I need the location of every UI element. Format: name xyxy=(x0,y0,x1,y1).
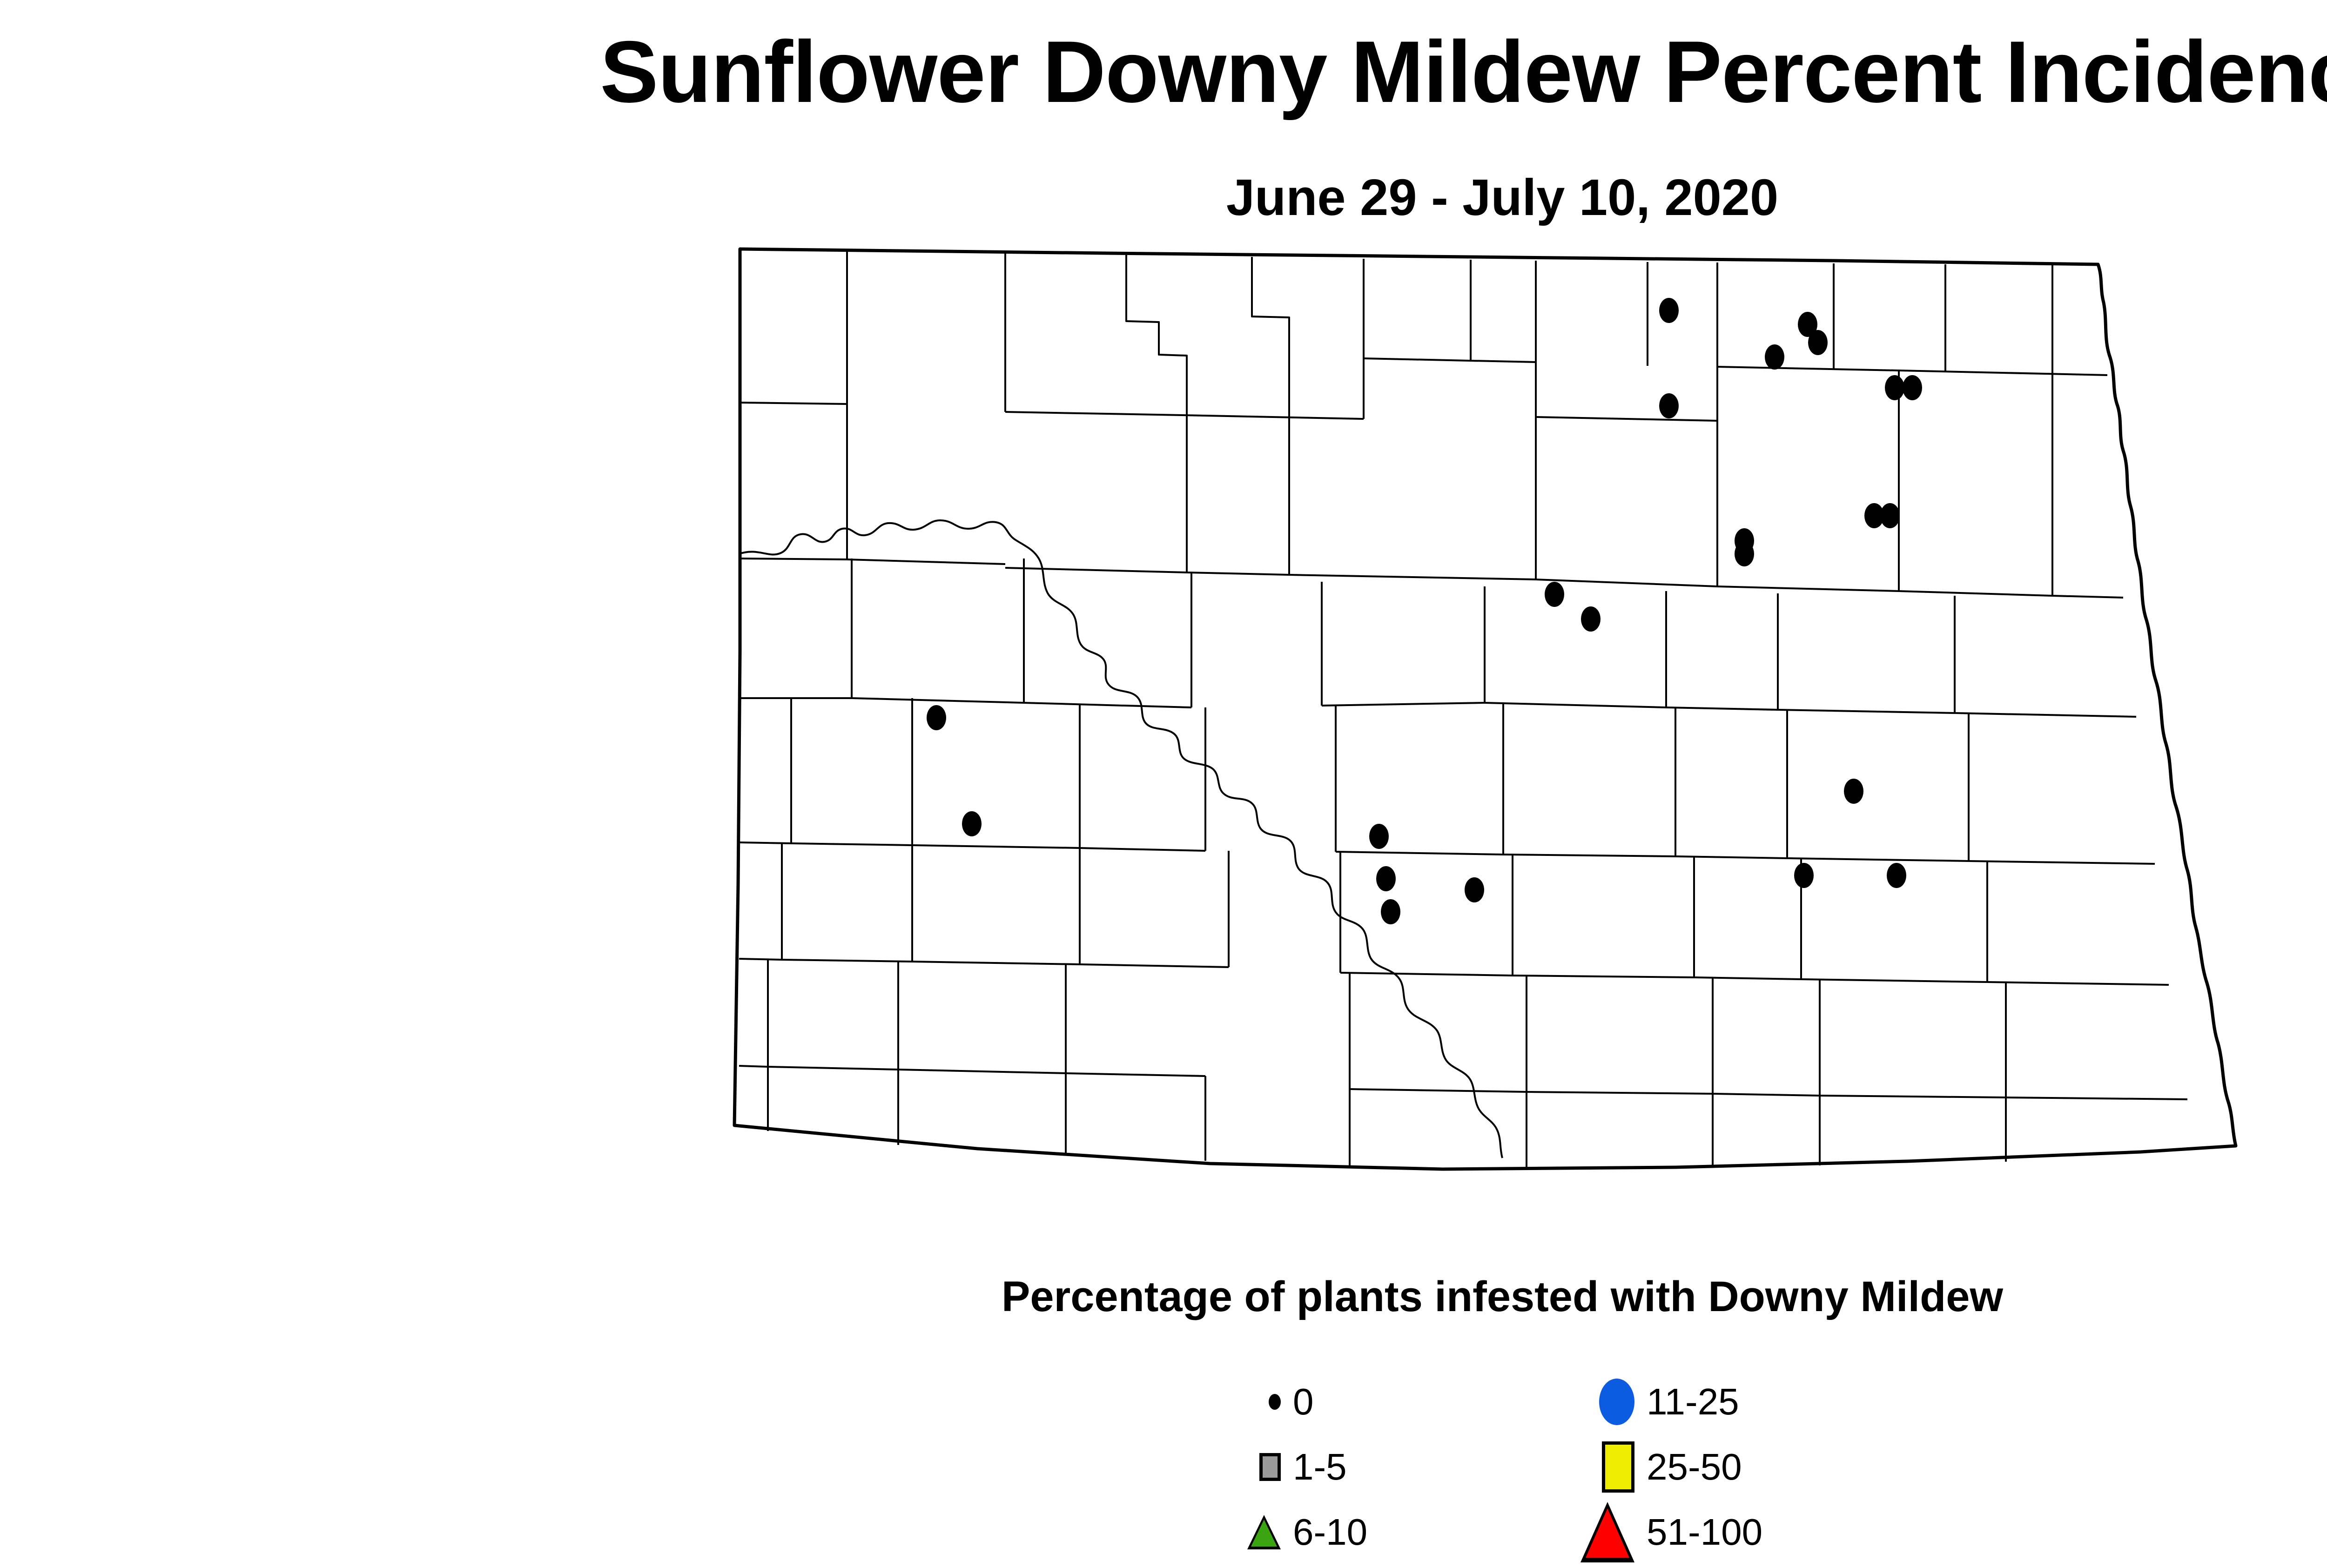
circle-icon xyxy=(1269,1394,1281,1410)
legend-symbol-51-100 xyxy=(1493,1502,1647,1562)
lake-sakakawea xyxy=(739,520,1213,769)
legend-symbol-0 xyxy=(1139,1394,1293,1410)
map-svg xyxy=(652,233,2327,1257)
legend-symbol-25-50 xyxy=(1493,1441,1647,1493)
legend-label-51-100: 51-100 xyxy=(1647,1514,1847,1551)
legend-label-1-5: 1-5 xyxy=(1293,1448,1493,1486)
legend-label-11-25: 11-25 xyxy=(1647,1383,1847,1420)
triangle-icon xyxy=(1580,1502,1634,1562)
legend: Percentage of plants infested with Downy… xyxy=(0,1275,2327,1565)
page-title: Sunflower Downy Mildew Percent Incidence xyxy=(0,28,2327,115)
legend-symbol-1-5 xyxy=(1139,1453,1293,1481)
rectangle-icon xyxy=(1602,1441,1634,1493)
county-boundaries xyxy=(734,249,2236,1169)
triangle-icon xyxy=(1247,1515,1281,1549)
legend-title: Percentage of plants infested with Downy… xyxy=(0,1275,2327,1318)
ellipse-icon xyxy=(1599,1379,1634,1425)
legend-symbol-6-10 xyxy=(1139,1515,1293,1549)
map-data-points xyxy=(927,298,1922,924)
state-outline xyxy=(734,249,2236,1169)
legend-label-0: 0 xyxy=(1293,1383,1493,1420)
page-subtitle: June 29 - July 10, 2020 xyxy=(0,172,2327,223)
legend-label-6-10: 6-10 xyxy=(1293,1514,1493,1551)
legend-label-25-50: 25-50 xyxy=(1647,1448,1847,1486)
square-icon xyxy=(1259,1453,1281,1481)
legend-grid: 0 11-25 1-5 25-50 6-10 51-100 xyxy=(1139,1369,1865,1565)
north-dakota-map xyxy=(652,233,2327,1257)
legend-symbol-11-25 xyxy=(1493,1379,1647,1425)
